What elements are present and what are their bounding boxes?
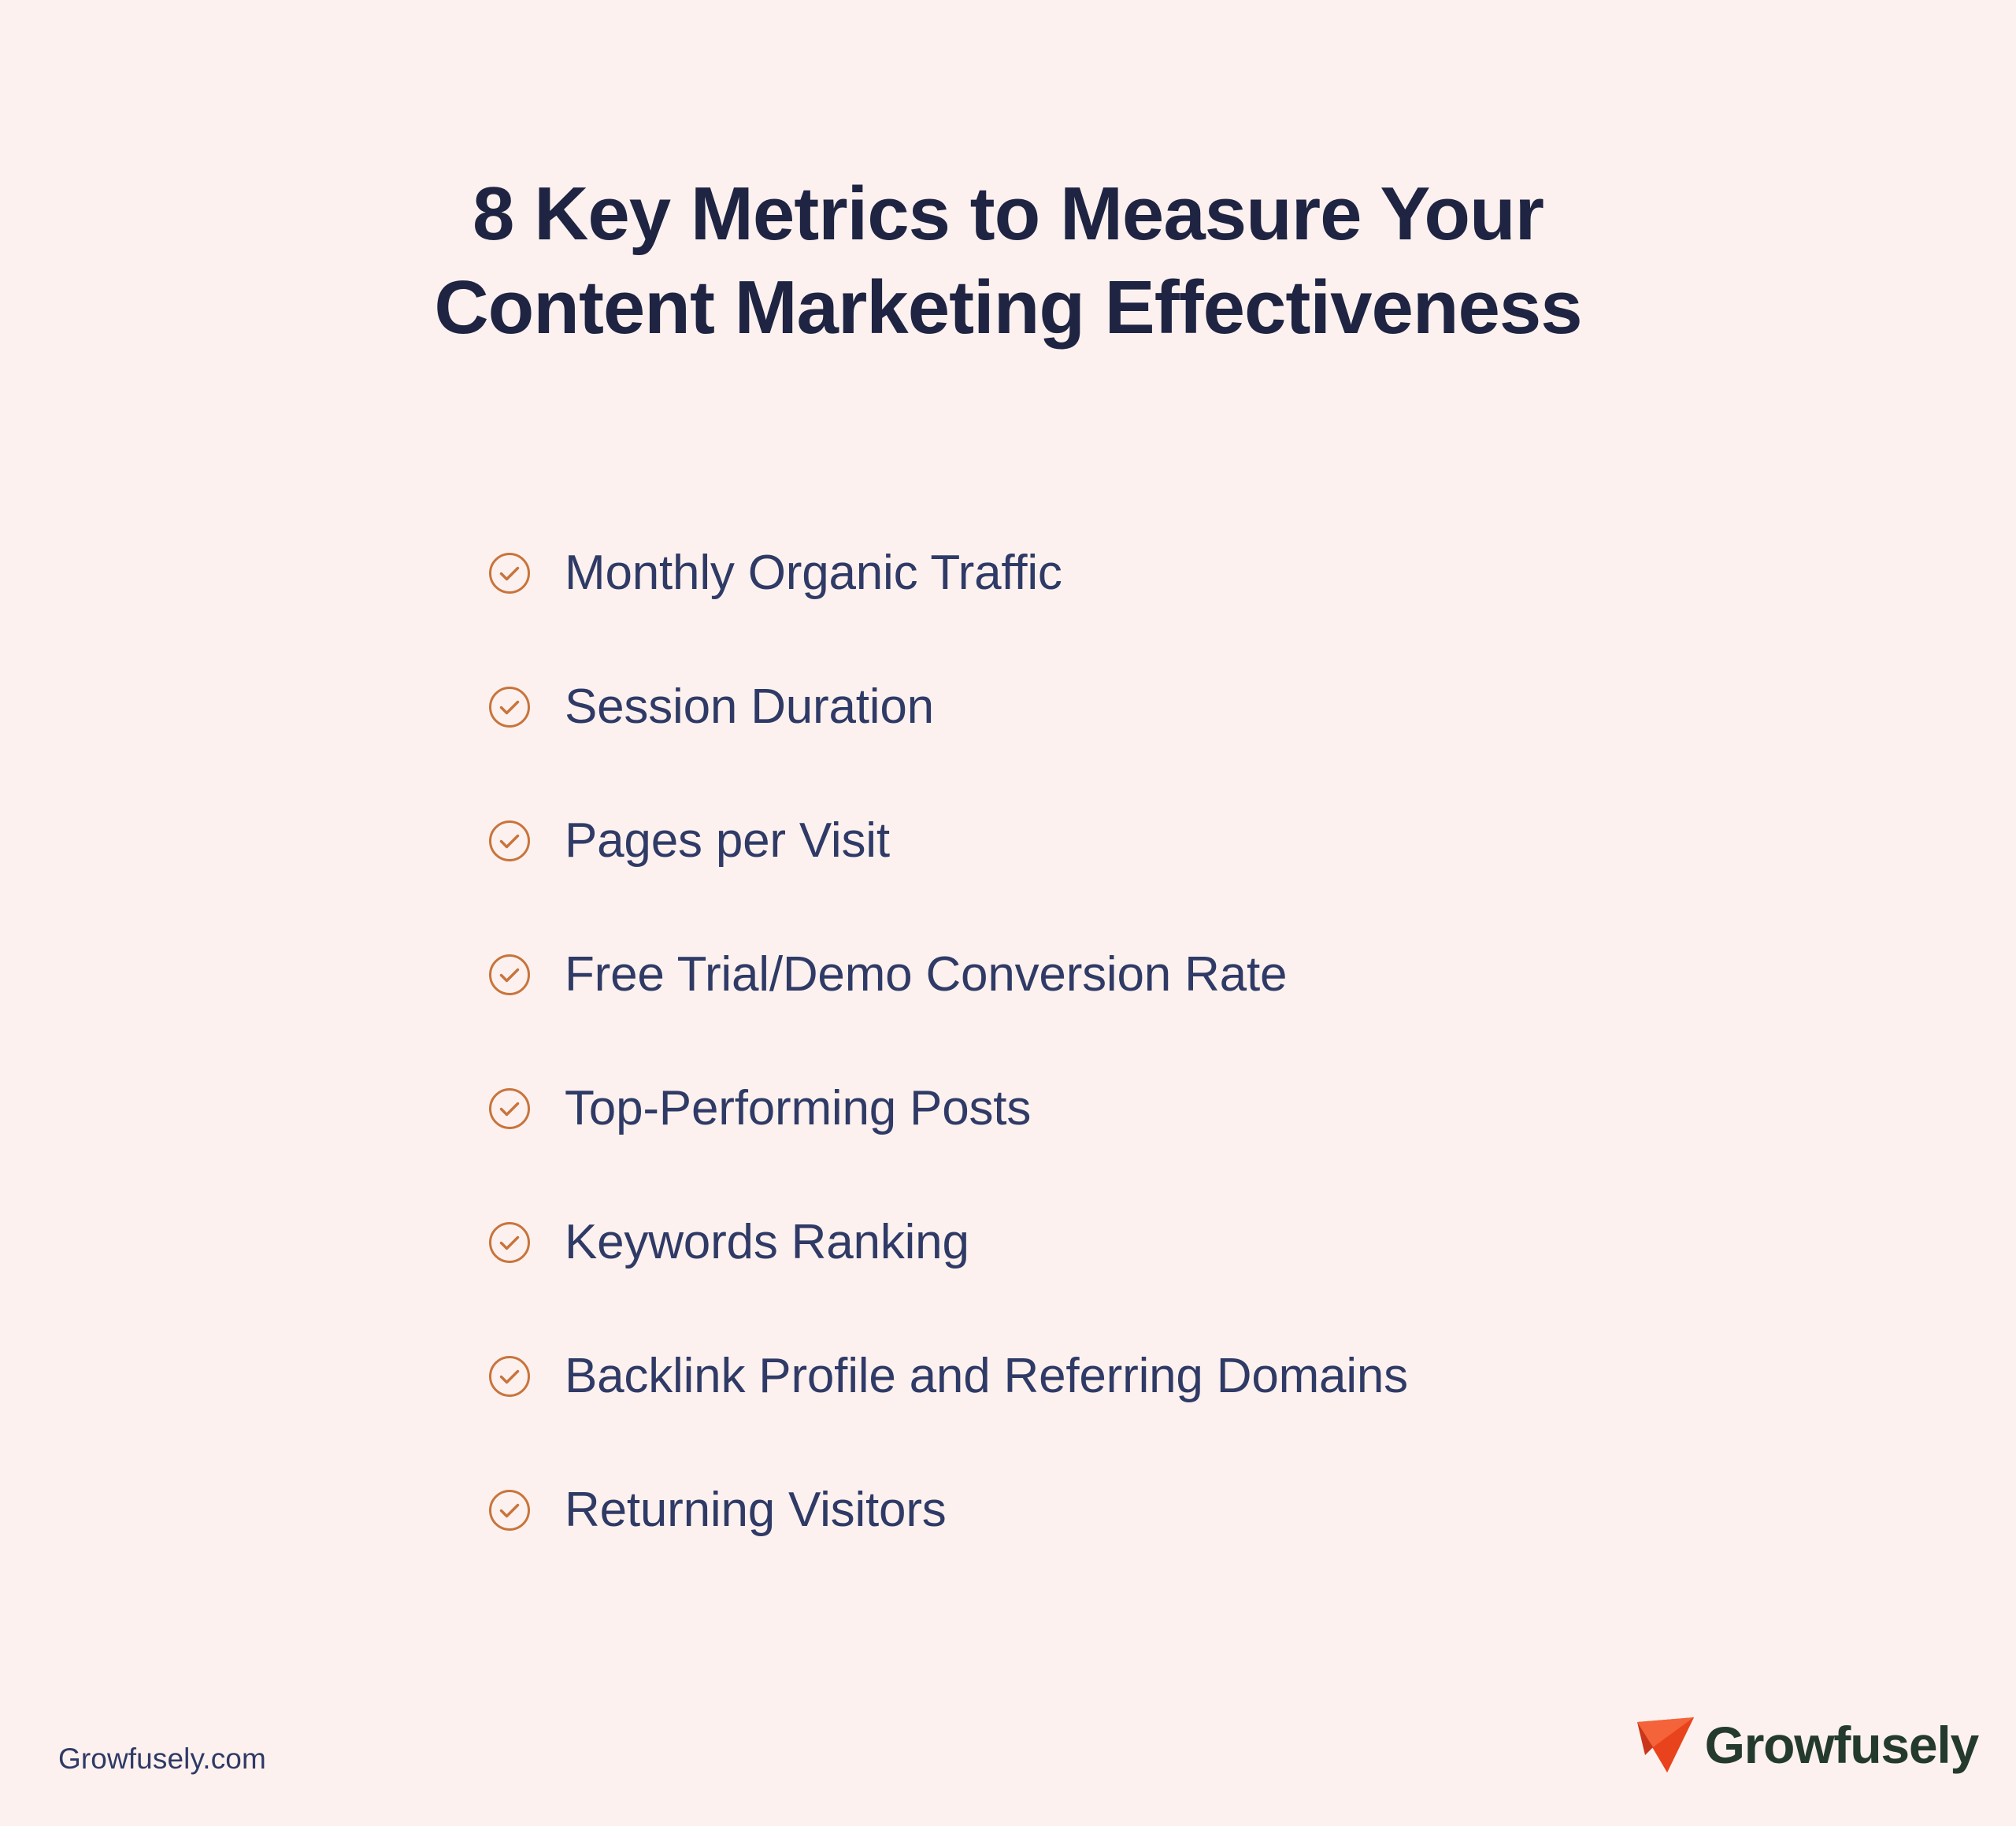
list-item-label: Session Duration xyxy=(565,680,934,735)
check-circle-icon xyxy=(488,820,531,862)
check-circle-icon xyxy=(488,954,531,996)
list-item-label: Free Trial/Demo Conversion Rate xyxy=(565,947,1287,1002)
paper-plane-icon xyxy=(1636,1713,1697,1777)
list-item: Keywords Ranking xyxy=(488,1208,1906,1277)
check-circle-icon xyxy=(488,1489,531,1532)
page-title: 8 Key Metrics to Measure Your Content Ma… xyxy=(0,167,2016,354)
page-title-line-2: Content Marketing Effectiveness xyxy=(236,261,1780,354)
footer-website-url: Growfusely.com xyxy=(58,1742,266,1776)
check-circle-icon xyxy=(488,686,531,728)
list-item-label: Returning Visitors xyxy=(565,1483,947,1538)
list-item: Top-Performing Posts xyxy=(488,1074,1906,1143)
page-title-line-1: 8 Key Metrics to Measure Your xyxy=(236,167,1780,261)
check-circle-icon xyxy=(488,552,531,594)
list-item: Backlink Profile and Referring Domains xyxy=(488,1342,1906,1411)
infographic-canvas: 8 Key Metrics to Measure Your Content Ma… xyxy=(0,0,2016,1826)
list-item: Pages per Visit xyxy=(488,806,1906,876)
brand-lockup: Growfusely xyxy=(1636,1707,1978,1783)
metrics-checklist: Monthly Organic Traffic Session Duration… xyxy=(488,539,1906,1545)
list-item: Returning Visitors xyxy=(488,1476,1906,1545)
list-item-label: Monthly Organic Traffic xyxy=(565,546,1062,601)
brand-wordmark: Growfusely xyxy=(1705,1716,1978,1774)
list-item-label: Keywords Ranking xyxy=(565,1215,969,1270)
list-item-label: Pages per Visit xyxy=(565,813,890,869)
list-item: Session Duration xyxy=(488,672,1906,742)
check-circle-icon xyxy=(488,1087,531,1130)
check-circle-icon xyxy=(488,1355,531,1398)
list-item-label: Top-Performing Posts xyxy=(565,1081,1031,1136)
check-circle-icon xyxy=(488,1221,531,1264)
list-item-label: Backlink Profile and Referring Domains xyxy=(565,1349,1408,1404)
list-item: Free Trial/Demo Conversion Rate xyxy=(488,940,1906,1009)
list-item: Monthly Organic Traffic xyxy=(488,539,1906,608)
